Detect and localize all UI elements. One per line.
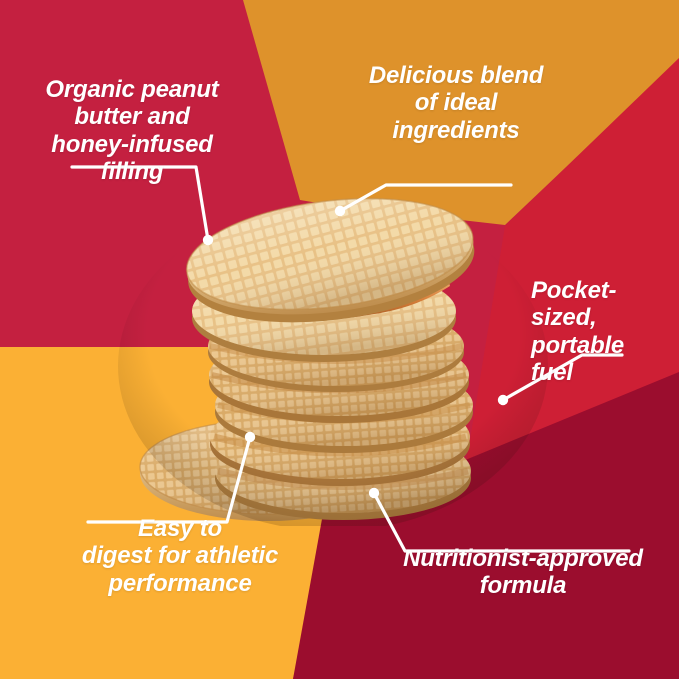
callout-filling-text: Organic peanut butter and honey-infused … — [26, 76, 238, 185]
callout-easy: Easy to digest for athletic performance — [66, 515, 294, 597]
callout-nutrition-text: Nutritionist-approved formula — [383, 545, 663, 600]
callout-blend: Delicious blend of ideal ingredients — [358, 62, 554, 144]
callout-pocket-text: Pocket-sized, portable fuel — [531, 277, 679, 386]
callout-nutrition: Nutritionist-approved formula — [383, 545, 663, 600]
stroopwafel-stack-photo — [118, 186, 548, 526]
callout-easy-text: Easy to digest for athletic performance — [66, 515, 294, 597]
callout-filling: Organic peanut butter and honey-infused … — [26, 76, 238, 185]
stack-vignette — [118, 201, 548, 526]
product-infographic-poster: Organic peanut butter and honey-infused … — [0, 0, 679, 679]
callout-blend-text: Delicious blend of ideal ingredients — [358, 62, 554, 144]
callout-pocket: Pocket-sized, portable fuel — [531, 277, 679, 386]
